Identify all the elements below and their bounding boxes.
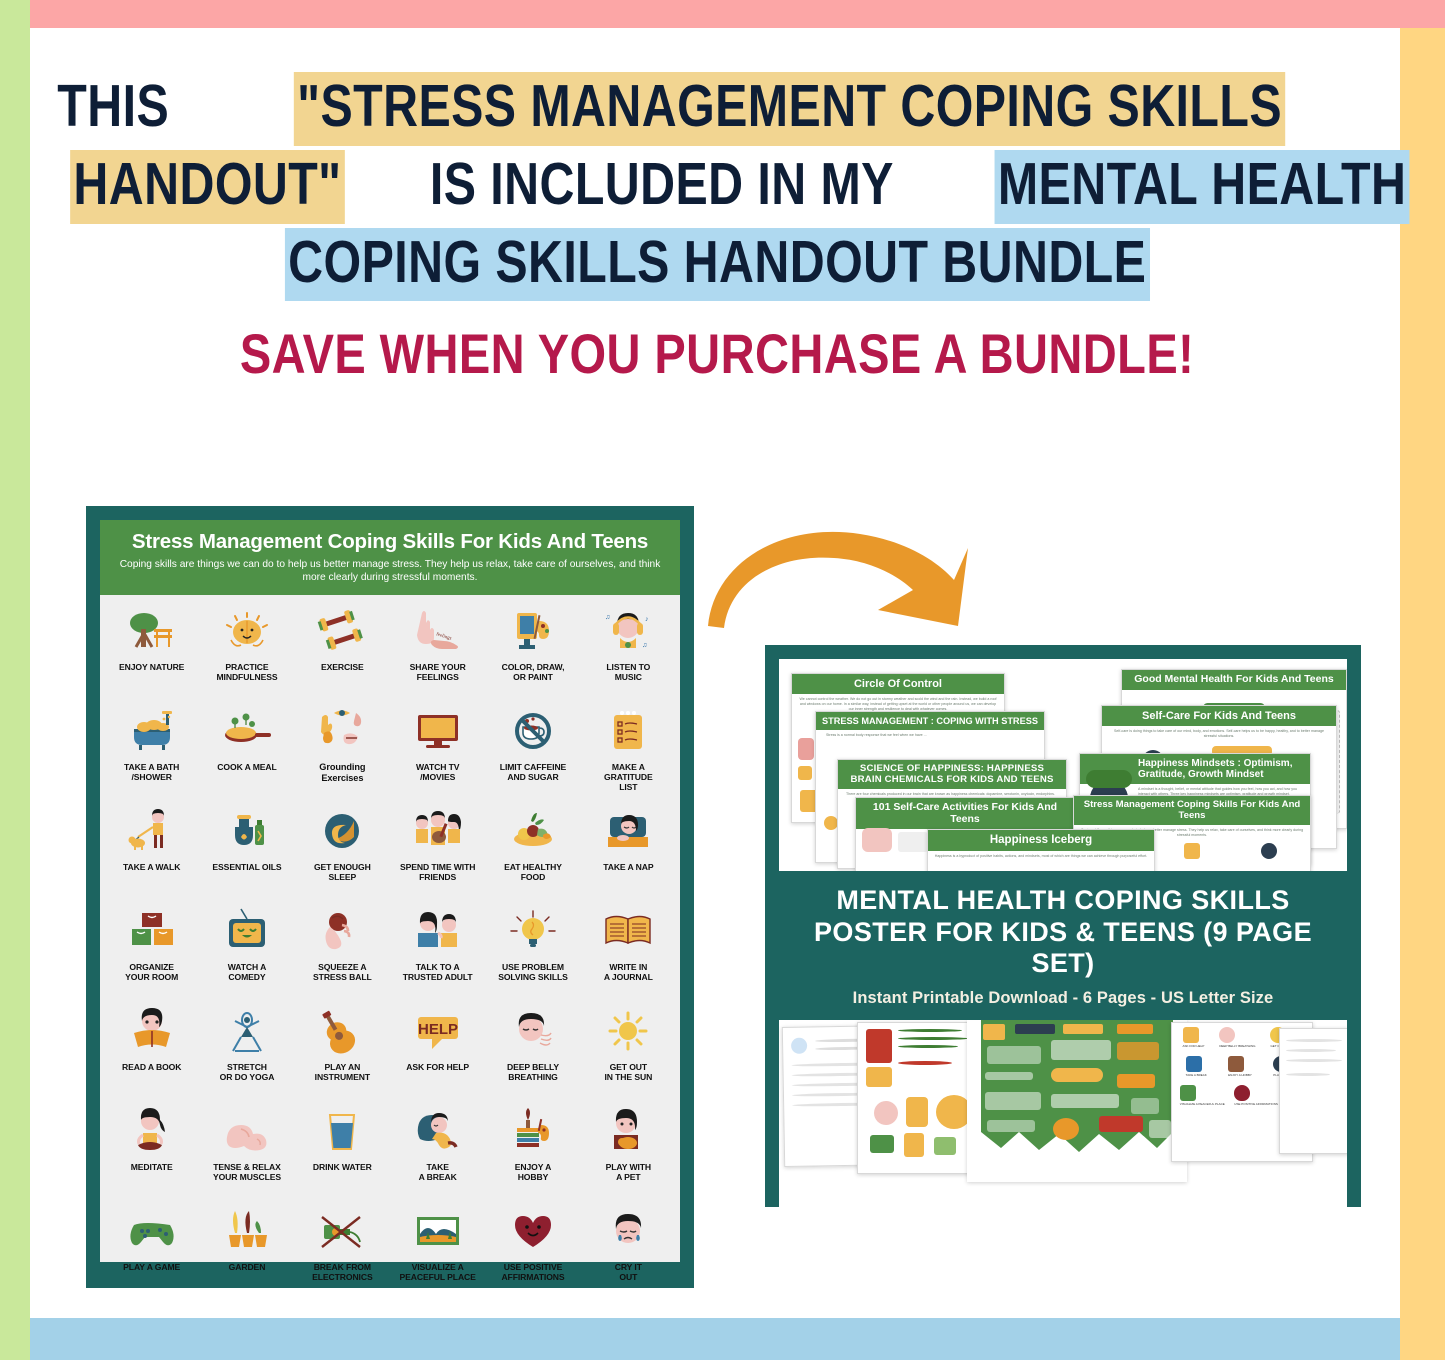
open-journal-icon — [602, 905, 654, 959]
skill-label: READ A BOOK — [122, 1062, 181, 1072]
skill-cell: PLAY WITHA PET — [581, 1101, 676, 1201]
game-controller-icon — [126, 1205, 178, 1259]
yoga-pose-icon — [221, 1005, 273, 1059]
skill-label: WATCH TV/MOVIES — [416, 762, 459, 782]
skill-cell: ORGANIZEYOUR ROOM — [104, 901, 199, 1001]
no-coffee-icon — [507, 705, 559, 759]
skill-label: GET OUTIN THE SUN — [604, 1062, 652, 1082]
skill-cell: TAKE A WALK — [104, 801, 199, 901]
skill-label: MEDITATE — [131, 1162, 173, 1172]
easel-palette-icon — [507, 605, 559, 659]
headline-plain-2: IS INCLUDED IN MY — [427, 150, 897, 224]
skill-cell: COOK A MEAL — [199, 701, 294, 801]
skill-label: TAKE A WALK — [123, 862, 180, 872]
storage-boxes-icon — [126, 905, 178, 959]
border-strip-bottom — [30, 1318, 1400, 1360]
sheet-thumb-right — [1279, 1028, 1347, 1154]
three-friends-icon — [412, 805, 464, 859]
crying-face-icon — [602, 1205, 654, 1259]
sheet-body: Happiness is a byproduct of positive hab… — [928, 851, 1154, 862]
skill-cell: feelingsSHARE YOURFEELINGS — [390, 601, 485, 701]
skill-cell: ESSENTIAL OILS — [199, 801, 294, 901]
headline-highlight-1: "STRESS MANAGEMENT COPING SKILLS — [294, 72, 1285, 146]
hands-feelings-icon: feelings — [412, 605, 464, 659]
breathing-face-icon — [507, 1005, 559, 1059]
poster-inner: Stress Management Coping Skills For Kids… — [100, 520, 680, 1262]
headphones-kid-icon: ♫♪♫ — [602, 605, 654, 659]
stress-ball-icon — [316, 905, 368, 959]
sheet-body: Stress is a normal body response that we… — [816, 730, 1044, 741]
skill-label: WRITE INA JOURNAL — [604, 962, 653, 982]
skill-cell: DEEP BELLYBREATHING — [485, 1001, 580, 1101]
skill-label: SQUEEZE ASTRESS BALL — [313, 962, 372, 982]
skill-cell: TENSE & RELAXYOUR MUSCLES — [199, 1101, 294, 1201]
skill-label: EAT HEALTHYFOOD — [504, 862, 562, 882]
potted-plants-icon — [221, 1205, 273, 1259]
skill-label: ENJOY NATURE — [119, 662, 184, 672]
help-bubble-icon: HELP — [412, 1005, 464, 1059]
skill-label: SPEND TIME WITHFRIENDS — [400, 862, 475, 882]
skill-cell: PLAY A GAME — [104, 1201, 199, 1301]
skill-label: GroundingExercises — [319, 762, 365, 784]
skill-cell: GroundingExercises — [295, 701, 390, 801]
border-strip-top — [30, 0, 1445, 28]
skill-label: PLAY WITHA PET — [606, 1162, 651, 1182]
sheet-happiness-iceberg: Happiness Iceberg Happiness is a byprodu… — [927, 829, 1155, 871]
mini-label: USE POSITIVE AFFIRMATIONS — [1234, 1102, 1278, 1106]
headline-line-1: THIS "STRESS MANAGEMENT COPING SKILLS — [40, 72, 1395, 146]
skill-cell: MEDITATE — [104, 1101, 199, 1201]
lightbulb-icon — [507, 905, 559, 959]
sheet-title: Stress Management Coping Skills For Kids… — [1074, 796, 1310, 825]
skill-label: SHARE YOURFEELINGS — [410, 662, 466, 682]
guitar-icon — [316, 1005, 368, 1059]
skill-cell: STRETCHOR DO YOGA — [199, 1001, 294, 1101]
skill-label: TAKE A BATH/SHOWER — [124, 762, 179, 782]
dumbbells-icon — [316, 605, 368, 659]
resting-kid-icon — [412, 1105, 464, 1159]
mini-label: VISUALIZE A PEACEFUL PLACE — [1180, 1102, 1225, 1106]
sun-icon — [602, 1005, 654, 1059]
sheet-body: Self-care is doing things to take care o… — [1102, 726, 1336, 742]
water-glass-icon — [316, 1105, 368, 1159]
television-icon — [412, 705, 464, 759]
skill-label: EXERCISE — [321, 662, 364, 672]
mini-label: ASK FOR HELP — [1183, 1044, 1205, 1048]
skill-cell: BREAK FROMELECTRONICS — [295, 1201, 390, 1301]
sheet-title: STRESS MANAGEMENT : COPING WITH STRESS — [816, 712, 1044, 730]
skill-label: DRINK WATER — [313, 1162, 372, 1172]
skill-cell: EAT HEALTHYFOOD — [485, 801, 580, 901]
skill-cell: SQUEEZE ASTRESS BALL — [295, 901, 390, 1001]
svg-text:HELP: HELP — [418, 1021, 458, 1038]
sheet-thumb-word-cloud — [967, 1020, 1187, 1182]
svg-text:♫: ♫ — [642, 642, 647, 649]
skill-label: GET ENOUGHSLEEP — [314, 862, 371, 882]
skill-label: COOK A MEAL — [217, 762, 276, 772]
bundle-thumbnails-bottom: ASK FOR HELP DEEP BELLY BREATHING GET OU… — [779, 1020, 1347, 1220]
svg-text:♫: ♫ — [605, 614, 610, 621]
skill-cell: GARDEN — [199, 1201, 294, 1301]
skill-cell: SPEND TIME WITHFRIENDS — [390, 801, 485, 901]
landscape-frame-icon — [412, 1205, 464, 1259]
walking-dog-icon — [126, 805, 178, 859]
mini-label: DEEP BELLY BREATHING — [1219, 1044, 1255, 1048]
skill-cell: WATCH TV/MOVIES — [390, 701, 485, 801]
bundle-thumbnails-top: Circle Of Control We cannot control the … — [779, 659, 1347, 871]
skill-label: ASK FOR HELP — [406, 1062, 469, 1072]
headline-highlight-2b: MENTAL HEALTH — [994, 150, 1409, 224]
headline-plain-1: THIS — [54, 72, 172, 146]
skill-cell: COLOR, DRAW,OR PAINT — [485, 601, 580, 701]
skill-cell: VISUALIZE APEACEFUL PLACE — [390, 1201, 485, 1301]
skill-cell: GET OUTIN THE SUN — [581, 1001, 676, 1101]
skill-label: CRY ITOUT — [615, 1262, 642, 1282]
skill-cell: CRY ITOUT — [581, 1201, 676, 1301]
skill-cell: TAKEA BREAK — [390, 1101, 485, 1201]
headline-subline: SAVE WHEN YOU PURCHASE A BUNDLE! — [240, 321, 1194, 386]
skill-label: DEEP BELLYBREATHING — [507, 1062, 559, 1082]
headline-line-3: COPING SKILLS HANDOUT BUNDLE — [40, 228, 1395, 302]
skill-label: WATCH ACOMEDY — [228, 962, 266, 982]
skill-label: ESSENTIAL OILS — [212, 862, 281, 872]
skill-label: TALK TO ATRUSTED ADULT — [403, 962, 473, 982]
skill-label: STRETCHOR DO YOGA — [220, 1062, 275, 1082]
skill-cell: ENJOY AHOBBY — [485, 1101, 580, 1201]
svg-text:feelings: feelings — [435, 632, 452, 642]
mini-label: TAKE A BREAK — [1186, 1073, 1207, 1077]
meditating-brain-icon — [221, 605, 273, 659]
stress-management-poster: Stress Management Coping Skills For Kids… — [86, 506, 694, 1288]
smiling-tv-icon — [221, 905, 273, 959]
moon-circle-icon — [316, 805, 368, 859]
skill-cell: HELPASK FOR HELP — [390, 1001, 485, 1101]
skill-cell: USE POSITIVEAFFIRMATIONS — [485, 1201, 580, 1301]
skill-label: LIMIT CAFFEINEAND SUGAR — [500, 762, 566, 782]
healthy-plate-icon — [507, 805, 559, 859]
skill-label: LISTEN TOMUSIC — [606, 662, 650, 682]
checklist-icon — [602, 705, 654, 759]
poster-title: Stress Management Coping Skills For Kids… — [110, 530, 670, 554]
skill-label: PRACTICEMINDFULNESS — [217, 662, 278, 682]
poster-subtitle: Coping skills are things we can do to he… — [110, 558, 670, 584]
skill-cell: WRITE INA JOURNAL — [581, 901, 676, 1001]
flexing-arm-icon — [221, 1105, 273, 1159]
headline-highlight-3: COPING SKILLS HANDOUT BUNDLE — [285, 228, 1150, 302]
bundle-promo-card: Circle Of Control We cannot control the … — [765, 645, 1361, 1207]
skill-cell: ENJOY NATURE — [104, 601, 199, 701]
skill-cell: TAKE A NAP — [581, 801, 676, 901]
skill-label: TAKEA BREAK — [419, 1162, 457, 1182]
bundle-caption: MENTAL HEALTH COPING SKILLS POSTER FOR K… — [779, 871, 1347, 1020]
headline-block: THIS "STRESS MANAGEMENT COPING SKILLS HA… — [40, 72, 1395, 386]
sheet-title: SCIENCE OF HAPPINESS: HAPPINESS BRAIN CH… — [838, 760, 1066, 789]
headline-line-2: HANDOUT" IS INCLUDED IN MY MENTAL HEALTH — [40, 150, 1395, 224]
bundle-title-line2: POSTER FOR KIDS & TEENS (9 PAGE SET) — [785, 917, 1341, 980]
skill-cell: GET ENOUGHSLEEP — [295, 801, 390, 901]
skill-label: PLAY ANINSTRUMENT — [315, 1062, 370, 1082]
border-strip-right — [1400, 28, 1445, 1360]
skill-cell: READ A BOOK — [104, 1001, 199, 1101]
skill-cell: PRACTICEMINDFULNESS — [199, 601, 294, 701]
skill-label: MAKE AGRATITUDELIST — [604, 762, 653, 792]
reading-kid-icon — [126, 1005, 178, 1059]
hobby-stack-icon — [507, 1105, 559, 1159]
skill-cell: EXERCISE — [295, 601, 390, 701]
two-people-talking-icon — [412, 905, 464, 959]
skill-label: TENSE & RELAXYOUR MUSCLES — [213, 1162, 281, 1182]
skill-label: USE PROBLEMSOLVING SKILLS — [498, 962, 568, 982]
skill-label: VISUALIZE APEACEFUL PLACE — [400, 1262, 476, 1282]
sheet-title: Good Mental Health For Kids And Teens — [1122, 670, 1346, 690]
unplug-icon — [316, 1205, 368, 1259]
smiling-heart-icon — [507, 1205, 559, 1259]
meditating-girl-icon — [126, 1105, 178, 1159]
five-senses-icon — [316, 705, 368, 759]
skill-label: COLOR, DRAW,OR PAINT — [502, 662, 565, 682]
frying-pan-icon — [221, 705, 273, 759]
sheet-title: 101 Self-Care Activities For Kids And Te… — [856, 798, 1074, 829]
skill-cell: PLAY ANINSTRUMENT — [295, 1001, 390, 1101]
skill-label: USE POSITIVEAFFIRMATIONS — [501, 1262, 564, 1282]
sheet-title: Self-Care For Kids And Teens — [1102, 706, 1336, 726]
skill-cell: USE PROBLEMSOLVING SKILLS — [485, 901, 580, 1001]
skill-label: BREAK FROMELECTRONICS — [312, 1262, 373, 1282]
skill-label: ORGANIZEYOUR ROOM — [125, 962, 178, 982]
skill-label: TAKE A NAP — [603, 862, 653, 872]
skill-cell: MAKE AGRATITUDELIST — [581, 701, 676, 801]
border-strip-left — [0, 0, 30, 1360]
sheet-title: Circle Of Control — [792, 674, 1004, 694]
coping-skills-grid: ENJOY NATUREPRACTICEMINDFULNESSEXERCISEf… — [100, 595, 680, 1301]
bundle-subtitle: Instant Printable Download - 6 Pages - U… — [785, 989, 1341, 1008]
skill-cell: LIMIT CAFFEINEAND SUGAR — [485, 701, 580, 801]
bathtub-icon — [126, 705, 178, 759]
poster-header: Stress Management Coping Skills For Kids… — [100, 520, 680, 595]
oil-diffuser-icon — [221, 805, 273, 859]
girl-with-pet-icon — [602, 1105, 654, 1159]
bundle-title-line1: MENTAL HEALTH COPING SKILLS — [785, 885, 1341, 917]
skill-cell: TALK TO ATRUSTED ADULT — [390, 901, 485, 1001]
sheet-title: Happiness Iceberg — [928, 830, 1154, 851]
skill-label: ENJOY AHOBBY — [515, 1162, 552, 1182]
skill-cell: ♫♪♫LISTEN TOMUSIC — [581, 601, 676, 701]
mini-label: ENJOY A HOBBY — [1228, 1073, 1252, 1077]
skill-label: PLAY A GAME — [123, 1262, 180, 1272]
tree-bench-icon — [126, 605, 178, 659]
sleeping-girl-icon — [602, 805, 654, 859]
skill-label: GARDEN — [229, 1262, 266, 1272]
skill-cell: TAKE A BATH/SHOWER — [104, 701, 199, 801]
skill-cell: WATCH ACOMEDY — [199, 901, 294, 1001]
headline-highlight-2a: HANDOUT" — [70, 150, 345, 224]
skill-cell: DRINK WATER — [295, 1101, 390, 1201]
svg-text:♪: ♪ — [645, 616, 649, 623]
curved-arrow-icon — [700, 518, 970, 643]
